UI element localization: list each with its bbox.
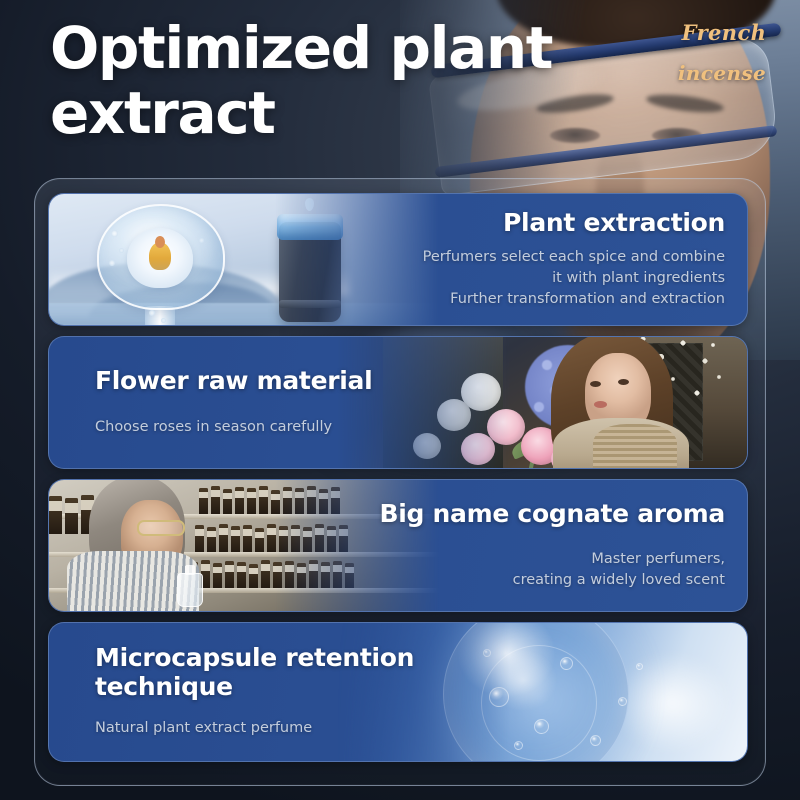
brand-script-line2: incense: [660, 63, 784, 83]
bubble: [161, 318, 166, 323]
woman-eye-left: [590, 381, 601, 387]
feature-card-flower-raw-material[interactable]: Flower raw material Choose roses in seas…: [48, 336, 748, 469]
card-3-title: Big name cognate aroma: [380, 500, 725, 529]
card-4-title: Microcapsule retention technique: [95, 644, 414, 701]
card-4-text: Microcapsule retention technique Natural…: [95, 623, 525, 761]
glass-vial: [177, 573, 203, 607]
woman-eye-right: [618, 379, 629, 385]
card-3-subtitle: Master perfumers, creating a widely love…: [513, 549, 725, 591]
orchid-stamen: [155, 236, 165, 248]
bubble: [199, 238, 204, 243]
card-4-subtitle: Natural plant extract perfume: [95, 718, 312, 739]
card-2-title: Flower raw material: [95, 367, 372, 396]
bubble: [590, 735, 601, 746]
card-1-text: Plant extraction Perfumers select each s…: [295, 194, 725, 325]
page-title: Optimized plant extract: [50, 16, 610, 146]
eyeglasses: [137, 520, 185, 536]
bubble: [109, 260, 115, 266]
brand-script-line1: French: [682, 20, 767, 45]
bubble: [636, 663, 643, 670]
bubble: [149, 310, 155, 316]
feature-card-cognate-aroma[interactable]: Big name cognate aroma Master perfumers,…: [48, 479, 748, 612]
feature-card-plant-extraction[interactable]: Plant extraction Perfumers select each s…: [48, 193, 748, 326]
card-1-title: Plant extraction: [503, 209, 725, 238]
card-1-subtitle: Perfumers select each spice and combine …: [423, 247, 725, 310]
card-3-text: Big name cognate aroma Master perfumers,…: [295, 480, 725, 611]
bubble: [111, 230, 118, 237]
vial-neck: [185, 565, 195, 575]
card-2-text: Flower raw material Choose roses in seas…: [95, 337, 525, 468]
card-2-subtitle: Choose roses in season carefully: [95, 417, 332, 438]
bottle-row-left: [49, 494, 94, 534]
bubble: [618, 697, 627, 706]
woman-lips: [594, 401, 607, 408]
brand-script: French incense: [664, 22, 784, 83]
promo-banner: Optimized plant extract French incense: [0, 0, 800, 800]
bubble: [560, 657, 573, 670]
bubble: [534, 719, 549, 734]
bubble: [119, 248, 124, 253]
knit-garment: [593, 424, 677, 468]
feature-card-microcapsule[interactable]: Microcapsule retention technique Natural…: [48, 622, 748, 762]
